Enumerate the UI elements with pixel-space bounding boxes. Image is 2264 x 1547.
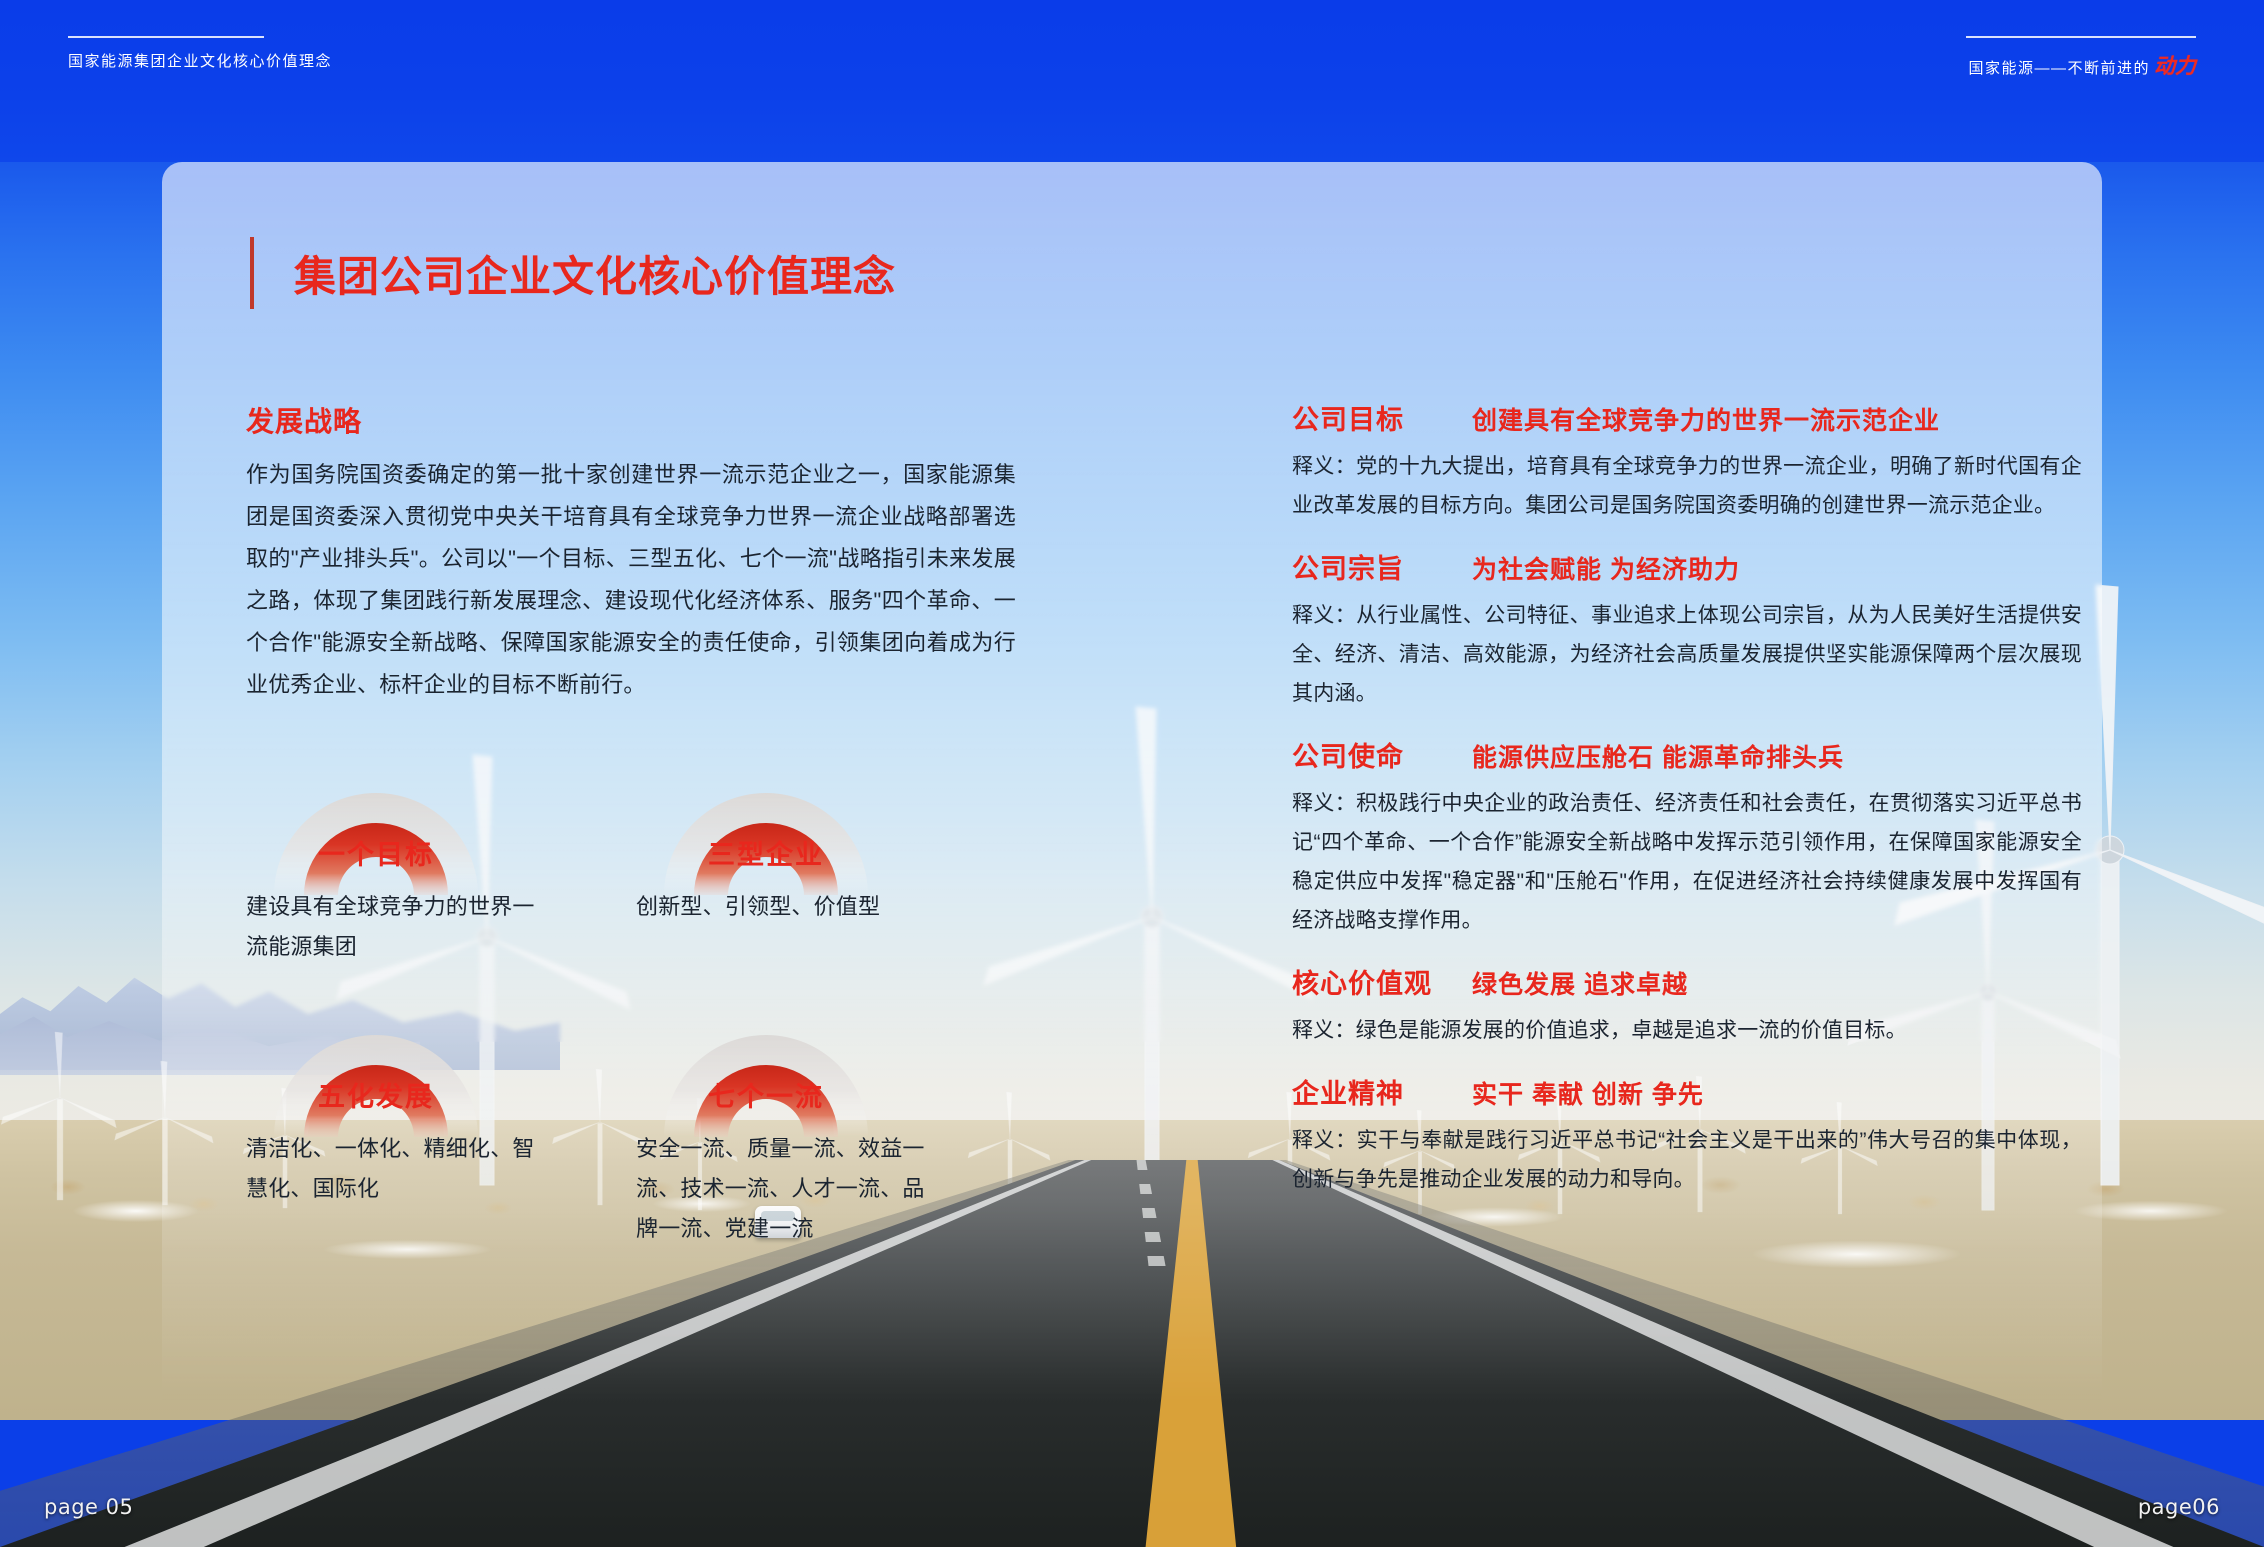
section-body: 释义：积极践行中央企业的政治责任、经济责任和社会责任，在贯彻落实习近平总书记“四… [1292,784,2082,940]
arc-graphic: 五化发展 [256,987,496,1137]
page-number-right: page06 [2138,1495,2220,1519]
badge-three-types: 三型企业 创新型、引领型、价值型 [636,745,1026,967]
badge-seven-first-class: 七个一流 安全一流、质量一流、效益一流、技术一流、人才一流、品牌一流、党建一流 [636,987,1026,1249]
arc-graphic: 三型企业 [646,745,886,895]
section-heading-development-strategy: 发展战略 [246,400,1016,440]
arc-icon [646,987,886,1137]
badge-label: 一个目标 [256,833,496,872]
section-header: 核心价值观 绿色发展 追求卓越 [1292,962,2082,1001]
badge-label: 七个一流 [646,1075,886,1114]
section-enterprise-spirit: 企业精神 实干 奉献 创新 争先 释义：实干与奉献是践行习近平总书记“社会主义是… [1292,1072,2082,1199]
page-title: 集团公司企业文化核心价值理念 [294,243,896,304]
header-right: 国家能源——不断前进的动力 [1966,36,2196,80]
page-title-block: 集团公司企业文化核心价值理念 [250,237,896,309]
section-slogan: 绿色发展 追求卓越 [1472,965,1688,1001]
arc-icon [646,745,886,895]
section-company-goal: 公司目标 创建具有全球竞争力的世界一流示范企业 释义：党的十九大提出，培育具有全… [1292,398,2082,525]
header-right-label: 国家能源——不断前进的 [1968,60,2150,77]
section-body: 释义：从行业属性、公司特征、事业追求上体现公司宗旨，从为人民美好生活提供安全、经… [1292,596,2082,713]
section-body: 释义：党的十九大提出，培育具有全球竞争力的世界一流企业，明确了新时代国有企业改革… [1292,447,2082,525]
header-left: 国家能源集团企业文化核心价值理念 [68,36,332,71]
arc-icon [256,745,496,895]
section-header: 企业精神 实干 奉献 创新 争先 [1292,1072,2082,1111]
title-accent-bar [250,237,254,309]
header-left-text: 国家能源集团企业文化核心价值理念 [68,50,332,71]
section-core-values: 核心价值观 绿色发展 追求卓越 释义：绿色是能源发展的价值追求，卓越是追求一流的… [1292,962,2082,1050]
top-blue-band [0,0,2264,162]
right-column: 公司目标 创建具有全球竞争力的世界一流示范企业 释义：党的十九大提出，培育具有全… [1292,398,2082,1221]
section-title: 公司使命 [1292,735,1472,774]
badge-description: 安全一流、质量一流、效益一流、技术一流、人才一流、品牌一流、党建一流 [636,1129,931,1249]
section-title: 核心价值观 [1292,962,1472,1001]
badge-five-modernizations: 五化发展 清洁化、一体化、精细化、智慧化、国际化 [246,987,636,1249]
section-slogan: 为社会赋能 为经济助力 [1472,550,1740,586]
badge-row-2: 五化发展 清洁化、一体化、精细化、智慧化、国际化 七个一流 安全一流、质量一流、… [246,987,1036,1249]
section-header: 公司宗旨 为社会赋能 为经济助力 [1292,547,2082,586]
section-body: 释义：绿色是能源发展的价值追求，卓越是追求一流的价值目标。 [1292,1011,2082,1050]
header-right-accent: 动力 [2154,53,2196,78]
left-column: 发展战略 作为国务院国资委确定的第一批十家创建世界一流示范企业之一，国家能源集团… [246,400,1016,706]
header-right-rule [1966,36,2196,38]
section-company-purpose: 公司宗旨 为社会赋能 为经济助力 释义：从行业属性、公司特征、事业追求上体现公司… [1292,547,2082,713]
section-slogan: 创建具有全球竞争力的世界一流示范企业 [1472,401,1940,437]
section-slogan: 能源供应压舱石 能源革命排头兵 [1472,738,1844,774]
badge-label: 三型企业 [646,833,886,872]
badge-description: 建设具有全球竞争力的世界一流能源集团 [246,887,541,967]
brochure-spread: 国家能源集团企业文化核心价值理念 国家能源——不断前进的动力 集团公司企业文化核… [0,0,2264,1547]
badge-one-goal: 一个目标 建设具有全球竞争力的世界一流能源集团 [246,745,636,967]
badge-row-1: 一个目标 建设具有全球竞争力的世界一流能源集团 三型企业 创新型、引领型、价值型 [246,745,1036,967]
badge-description: 清洁化、一体化、精细化、智慧化、国际化 [246,1129,541,1209]
page-number-left: page 05 [44,1495,133,1519]
section-title: 公司宗旨 [1292,547,1472,586]
development-strategy-paragraph: 作为国务院国资委确定的第一批十家创建世界一流示范企业之一，国家能源集团是国资委深… [246,454,1016,706]
arc-graphic: 一个目标 [256,745,496,895]
header-right-text: 国家能源——不断前进的动力 [1966,50,2196,80]
section-body: 释义：实干与奉献是践行习近平总书记“社会主义是干出来的”伟大号召的集中体现，创新… [1292,1121,2082,1199]
header-left-rule [68,36,264,38]
strategy-badges: 一个目标 建设具有全球竞争力的世界一流能源集团 三型企业 创新型、引领型、价值型 [246,745,1036,1249]
section-header: 公司使命 能源供应压舱石 能源革命排头兵 [1292,735,2082,774]
arc-graphic: 七个一流 [646,987,886,1137]
section-slogan: 实干 奉献 创新 争先 [1472,1075,1704,1111]
section-title: 公司目标 [1292,398,1472,437]
section-header: 公司目标 创建具有全球竞争力的世界一流示范企业 [1292,398,2082,437]
section-company-mission: 公司使命 能源供应压舱石 能源革命排头兵 释义：积极践行中央企业的政治责任、经济… [1292,735,2082,940]
arc-icon [256,987,496,1137]
section-title: 企业精神 [1292,1072,1472,1111]
badge-label: 五化发展 [256,1075,496,1114]
